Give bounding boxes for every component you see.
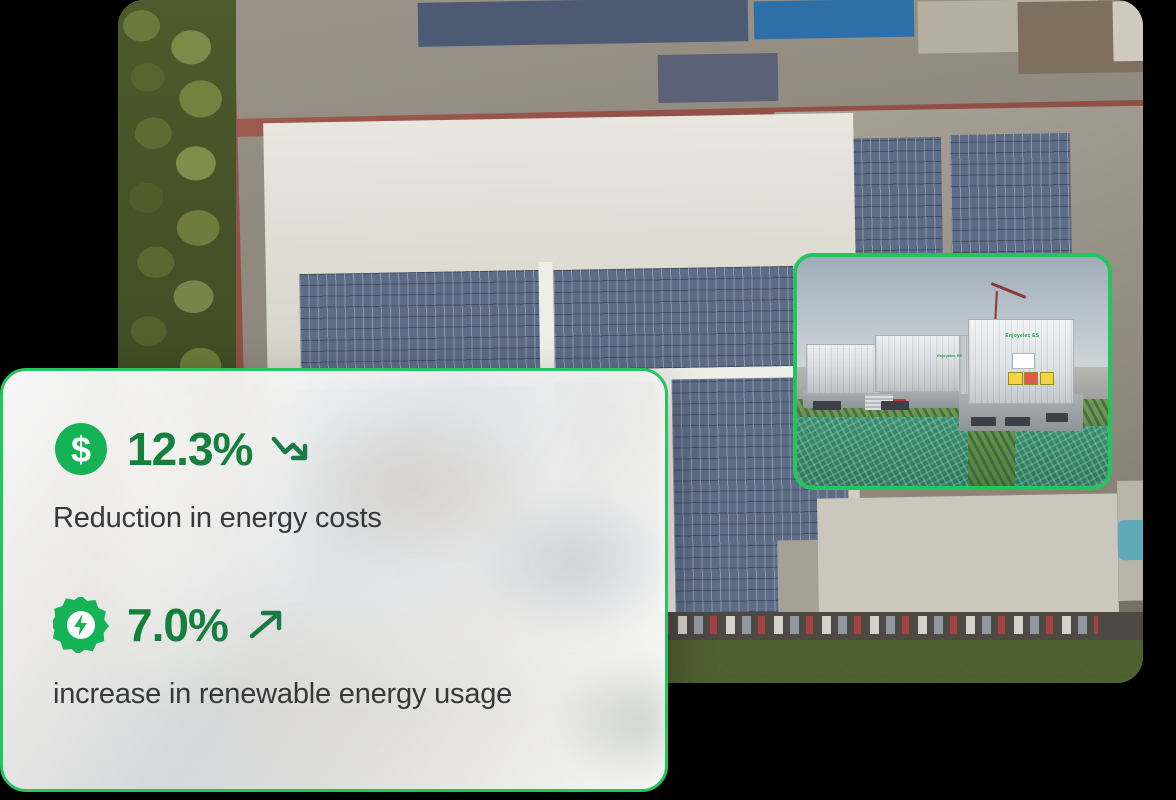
solar-array — [299, 270, 546, 374]
background-building — [658, 53, 779, 103]
stat-label: Reduction in energy costs — [53, 497, 553, 539]
plinth-vent — [971, 417, 996, 426]
tree-belt — [118, 0, 236, 430]
background-building-blue — [754, 0, 915, 39]
background-building — [418, 0, 749, 47]
stat-reduction-in-energy-costs: $ 12.3% Reduction in energy costs — [53, 421, 665, 539]
battery-storage-inset-photo: Enjoyelec ES Enjoyelec ES — [793, 253, 1112, 490]
plinth-vent — [881, 401, 909, 410]
container-brand-label-secondary: Enjoyelec ES — [937, 353, 962, 358]
energy-bolt-badge-icon — [53, 597, 109, 653]
inset-turf-mat — [1015, 426, 1108, 486]
trend-up-arrow-icon — [246, 608, 288, 642]
stat-label: increase in renewable energy usage — [53, 673, 553, 715]
container-nameplate — [1012, 353, 1036, 369]
container-brand-label: Enjoyelec ES — [1005, 333, 1039, 339]
water-tank — [1118, 520, 1143, 561]
background-building — [1112, 0, 1143, 61]
warning-label-icon — [1024, 372, 1038, 385]
plinth-vent — [1005, 417, 1030, 426]
stat-increase-in-renewable-energy-usage: 7.0% increase in renewable energy usage — [53, 597, 665, 715]
energy-stats-card: $ 12.3% Reduction in energy costs — [0, 368, 668, 792]
svg-text:$: $ — [71, 429, 91, 470]
battery-container — [875, 335, 962, 392]
battery-container — [806, 344, 881, 394]
inset-turf-mat — [797, 417, 968, 486]
solar-array — [553, 266, 795, 370]
stat-value: 7.0% — [127, 602, 228, 648]
plinth-vent — [813, 401, 841, 410]
plinth-vent — [1046, 413, 1068, 422]
dollar-circle-icon: $ — [53, 421, 109, 477]
trend-down-arrow-icon — [270, 432, 312, 466]
background-building — [817, 493, 1119, 618]
warning-label-icon — [1008, 372, 1022, 385]
warning-label-icon — [1040, 372, 1054, 385]
stat-value: 12.3% — [127, 426, 252, 472]
